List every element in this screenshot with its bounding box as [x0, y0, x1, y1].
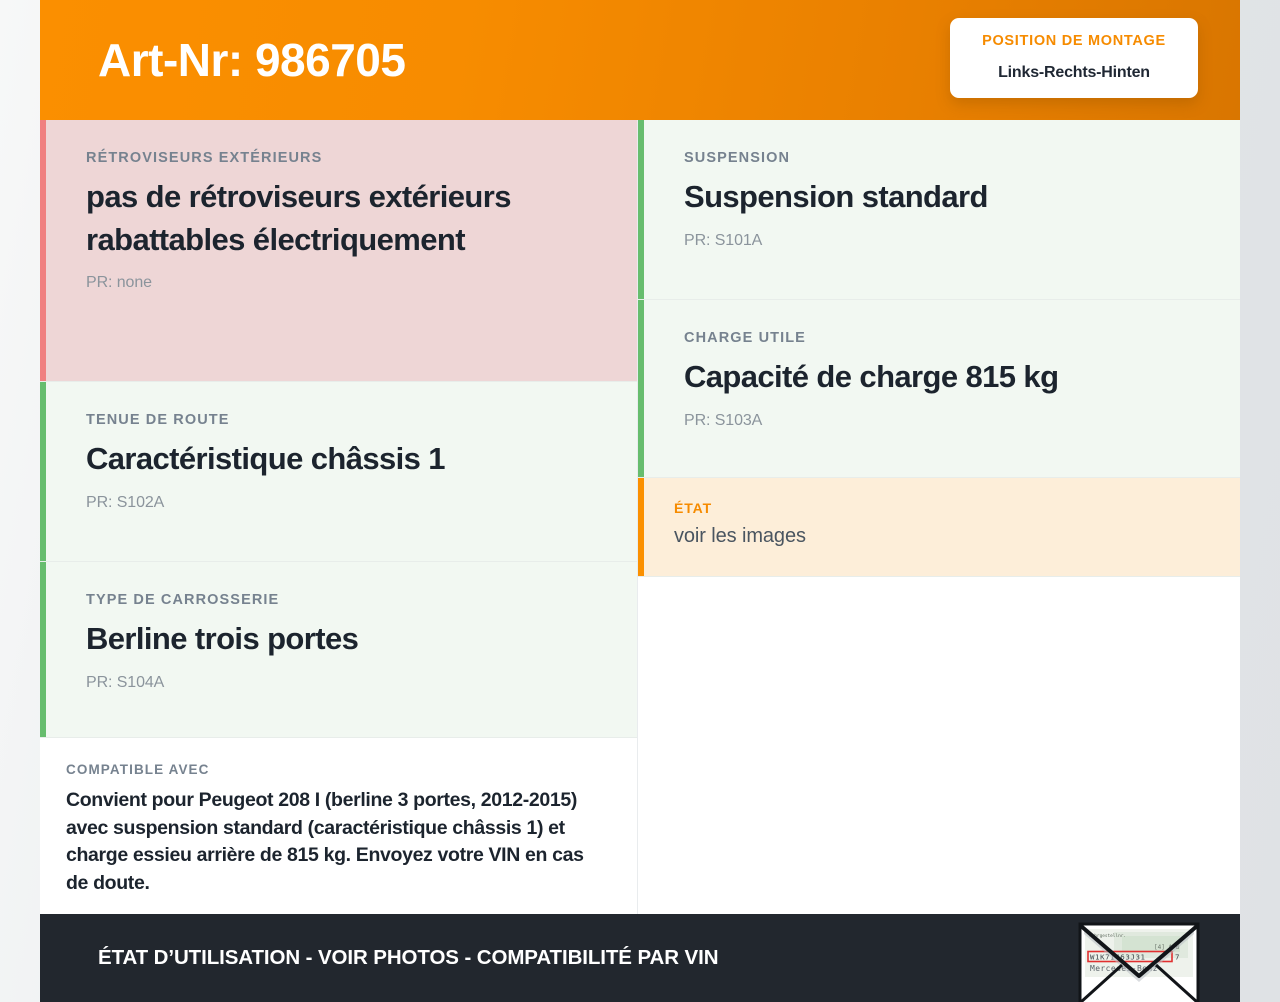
condition-label: ÉTAT	[674, 500, 1194, 517]
mounting-position-value: Links-Rechts-Hinten	[960, 64, 1188, 82]
spec-label: SUSPENSION	[684, 150, 1194, 167]
spec-value: pas de rétroviseurs extérieurs rabattabl…	[86, 176, 591, 260]
spec-label: CHARGE UTILE	[684, 330, 1194, 347]
spec-card-suspension: SUSPENSION Suspension standard PR: S101A	[638, 120, 1240, 300]
footer-bar: ÉTAT D’UTILISATION - VOIR PHOTOS - COMPA…	[40, 914, 1240, 1002]
spec-card-body-type: TYPE DE CARROSSERIE Berline trois portes…	[40, 562, 637, 738]
compatibility-text: Convient pour Peugeot 208 I (berline 3 p…	[66, 787, 591, 898]
svg-text:7: 7	[1175, 953, 1179, 962]
spec-card-handling: TENUE DE ROUTE Caractéristique châssis 1…	[40, 382, 637, 562]
spec-card-payload: CHARGE UTILE Capacité de charge 815 kg P…	[638, 300, 1240, 478]
spec-pr-code: PR: none	[86, 274, 591, 292]
right-column-filler	[638, 577, 1240, 914]
left-column: RÉTROVISEURS EXTÉRIEURS pas de rétrovise…	[40, 120, 638, 914]
mounting-position-label: POSITION DE MONTAGE	[960, 34, 1188, 50]
spec-label: TENUE DE ROUTE	[86, 412, 591, 429]
spec-label: TYPE DE CARROSSERIE	[86, 592, 591, 609]
spec-value: Capacité de charge 815 kg	[684, 356, 1194, 398]
header-bar: Art-Nr: 986705 POSITION DE MONTAGE Links…	[40, 0, 1240, 120]
spec-value: Berline trois portes	[86, 618, 591, 660]
compatibility-label: COMPATIBLE AVEC	[66, 762, 591, 777]
mounting-position-badge: POSITION DE MONTAGE Links-Rechts-Hinten	[950, 18, 1198, 98]
spec-pr-code: PR: S104A	[86, 674, 591, 692]
condition-value: voir les images	[674, 523, 1194, 550]
spec-pr-code: PR: S103A	[684, 412, 1194, 430]
envelope-vin-document-icon: Fahrgestellnr. [4] A/B W1K71463J31 7 Mer…	[1076, 920, 1202, 1002]
spec-card-condition: ÉTAT voir les images	[638, 478, 1240, 577]
right-column: SUSPENSION Suspension standard PR: S101A…	[638, 120, 1240, 914]
spec-value: Caractéristique châssis 1	[86, 438, 591, 480]
spec-pr-code: PR: S102A	[86, 494, 591, 512]
spec-columns: RÉTROVISEURS EXTÉRIEURS pas de rétrovise…	[40, 120, 1240, 914]
product-spec-sheet: Art-Nr: 986705 POSITION DE MONTAGE Links…	[40, 0, 1240, 1002]
article-number: Art-Nr: 986705	[98, 37, 405, 83]
spec-pr-code: PR: S101A	[684, 232, 1194, 250]
spec-card-mirrors: RÉTROVISEURS EXTÉRIEURS pas de rétrovise…	[40, 120, 637, 382]
compatibility-section: COMPATIBLE AVEC Convient pour Peugeot 20…	[40, 738, 637, 918]
spec-value: Suspension standard	[684, 176, 1194, 218]
spec-label: RÉTROVISEURS EXTÉRIEURS	[86, 150, 591, 167]
footer-text: ÉTAT D’UTILISATION - VOIR PHOTOS - COMPA…	[98, 946, 718, 970]
